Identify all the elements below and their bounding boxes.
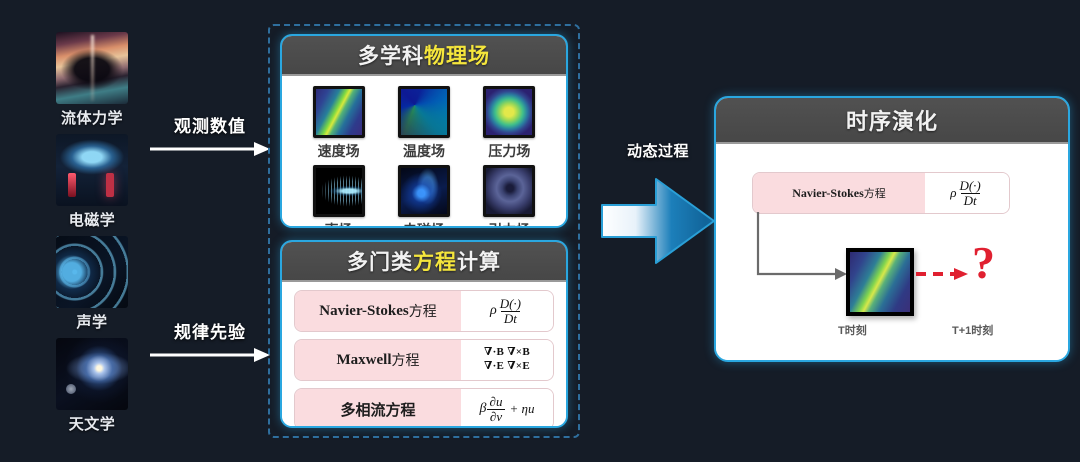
- diagram-canvas: 流体力学 电磁学 声学 天文学 观测数值 规律先验: [0, 0, 1080, 462]
- field-item-electromagnetic[interactable]: 电磁场: [381, 165, 466, 228]
- formula-denominator: Dt: [501, 311, 520, 325]
- flow-dynamic-label: 动态过程: [600, 140, 716, 161]
- formula-numerator: ∂u: [487, 395, 506, 408]
- equation-name-latin: Maxwell: [337, 352, 392, 369]
- discipline-item-acoustics[interactable]: 声学: [44, 236, 140, 332]
- equation-name: Navier-Stokes方程: [753, 173, 925, 213]
- blue-arrow-right-icon: [600, 175, 716, 272]
- equation-row-maxwell[interactable]: Maxwell方程 ∇·B ∇×B ∇·E ∇×E: [294, 339, 554, 381]
- formula-prefix: ρ: [490, 303, 497, 319]
- flow-observation: 观测数值: [150, 112, 270, 162]
- flow-prior: 规律先验: [150, 318, 270, 368]
- astronomy-thumbnail-icon: [56, 338, 128, 410]
- fields-card-header: 多学科物理场: [282, 36, 566, 76]
- formula-fraction: D(·) Dt: [497, 297, 524, 325]
- formula-prefix: β: [480, 401, 487, 417]
- field-item-sound[interactable]: 声场: [296, 165, 381, 228]
- fields-title-highlight: 物理场: [424, 45, 490, 68]
- formula-denominator: Dt: [961, 193, 980, 207]
- velocity-field-thumbnail-icon: [846, 248, 914, 316]
- equation-name-cn: 方程: [864, 185, 886, 201]
- formula-denominator: ∂v: [487, 409, 505, 423]
- field-label: 声场: [325, 220, 353, 228]
- multiclass-equations-card: 多门类方程计算 Navier-Stokes方程 ρ D(·) Dt Maxwel…: [280, 240, 568, 428]
- equation-name: Maxwell方程: [295, 340, 461, 380]
- arrow-right-icon: [150, 141, 270, 162]
- formula-numerator: D(·): [956, 179, 983, 192]
- maxwell-line-2: ∇·E ∇×E: [484, 360, 530, 374]
- equation-row-navier-stokes[interactable]: Navier-Stokes方程 ρ D(·) Dt: [294, 290, 554, 332]
- time-next-label: T+1时刻: [952, 322, 993, 338]
- field-label: 速度场: [318, 141, 360, 161]
- field-item-velocity[interactable]: 速度场: [296, 86, 381, 161]
- equation-name-cn: 多相流方程: [340, 399, 415, 420]
- equation-name-latin: Navier-Stokes: [319, 303, 408, 320]
- equation-name: Navier-Stokes方程: [295, 291, 461, 331]
- evolution-card-body: Navier-Stokes方程 ρ D(·) Dt: [716, 144, 1068, 362]
- discipline-item-fluid[interactable]: 流体力学: [44, 32, 140, 128]
- equation-row-multiphase-flow[interactable]: 多相流方程 β ∂u ∂v + ηu: [294, 388, 554, 428]
- discipline-label: 流体力学: [61, 107, 123, 128]
- discipline-label: 电磁学: [69, 209, 116, 230]
- equations-card-title: 多门类方程计算: [347, 246, 501, 276]
- field-item-temperature[interactable]: 温度场: [381, 86, 466, 161]
- maxwell-line-1: ∇·B ∇×B: [484, 346, 530, 360]
- maxwell-formula: ∇·B ∇×B ∇·E ∇×E: [484, 346, 530, 374]
- equation-formula: ∇·B ∇×B ∇·E ∇×E: [461, 340, 553, 380]
- pressure-field-thumbnail-icon: [483, 86, 535, 138]
- evolution-card-header: 时序演化: [716, 98, 1068, 144]
- gravity-field-thumbnail-icon: [483, 165, 535, 217]
- equation-formula: β ∂u ∂v + ηu: [461, 389, 553, 428]
- time-evolution-card: 时序演化 Navier-Stokes方程 ρ D(·) Dt: [714, 96, 1070, 362]
- acoustics-thumbnail-icon: [56, 236, 128, 308]
- formula-numerator: D(·): [497, 297, 524, 310]
- equation-name-latin: Navier-Stokes: [792, 186, 864, 201]
- electromagnetic-field-thumbnail-icon: [398, 165, 450, 217]
- equation-name-cn: 方程: [391, 350, 419, 370]
- discipline-list: 流体力学 电磁学 声学 天文学: [44, 32, 140, 440]
- fields-card-body: 速度场 温度场 压力场 声场 电磁场: [282, 76, 566, 228]
- discipline-item-electromagnetism[interactable]: 电磁学: [44, 134, 140, 230]
- fields-grid: 速度场 温度场 压力场 声场 电磁场: [282, 76, 566, 228]
- formula-fraction: ∂u ∂v: [487, 395, 506, 423]
- fields-card-title: 多学科物理场: [358, 40, 490, 70]
- equation-formula: ρ D(·) Dt: [461, 291, 553, 331]
- red-dashed-arrow-icon: [914, 266, 970, 287]
- velocity-field-thumbnail-icon: [313, 86, 365, 138]
- equation-formula: ρ D(·) Dt: [925, 173, 1009, 213]
- formula-suffix: + ηu: [509, 401, 534, 417]
- elbow-connector-arrow-icon: [752, 212, 852, 293]
- field-item-pressure[interactable]: 压力场: [467, 86, 552, 161]
- equation-name-cn: 方程: [409, 301, 437, 321]
- field-label: 温度场: [403, 141, 445, 161]
- sound-field-thumbnail-icon: [313, 165, 365, 217]
- discipline-label: 天文学: [69, 413, 116, 434]
- flow-prior-label: 规律先验: [150, 318, 270, 343]
- equations-card-body: Navier-Stokes方程 ρ D(·) Dt Maxwell方程 ∇·B …: [282, 282, 566, 428]
- evolution-equation-row[interactable]: Navier-Stokes方程 ρ D(·) Dt: [752, 172, 1010, 214]
- electromagnetism-thumbnail-icon: [56, 134, 128, 206]
- time-now-label: T时刻: [838, 322, 867, 338]
- fields-title-plain: 多学科: [358, 45, 424, 68]
- flow-observation-label: 观测数值: [150, 112, 270, 137]
- multidiscipline-physics-fields-card: 多学科物理场 速度场 温度场 压力场 声场: [280, 34, 568, 228]
- discipline-label: 声学: [76, 311, 107, 332]
- arrow-right-icon: [150, 347, 270, 368]
- evolution-card-title: 时序演化: [846, 104, 938, 136]
- field-label: 电磁场: [403, 220, 445, 228]
- fluid-dynamics-thumbnail-icon: [56, 32, 128, 104]
- equations-list: Navier-Stokes方程 ρ D(·) Dt Maxwell方程 ∇·B …: [282, 282, 566, 428]
- equations-title-plain-before: 多门类: [347, 251, 413, 274]
- temperature-field-thumbnail-icon: [398, 86, 450, 138]
- field-label: 压力场: [488, 141, 530, 161]
- formula-fraction: D(·) Dt: [956, 179, 983, 207]
- equations-title-highlight: 方程: [413, 251, 457, 274]
- equations-title-plain-after: 计算: [457, 251, 501, 274]
- equations-card-header: 多门类方程计算: [282, 242, 566, 282]
- field-label: 引力场: [488, 220, 530, 228]
- field-item-gravity[interactable]: 引力场: [467, 165, 552, 228]
- unknown-question-mark: ?: [972, 240, 995, 286]
- discipline-item-astronomy[interactable]: 天文学: [44, 338, 140, 434]
- flow-dynamic: 动态过程: [600, 140, 716, 272]
- equation-name: 多相流方程: [295, 389, 461, 428]
